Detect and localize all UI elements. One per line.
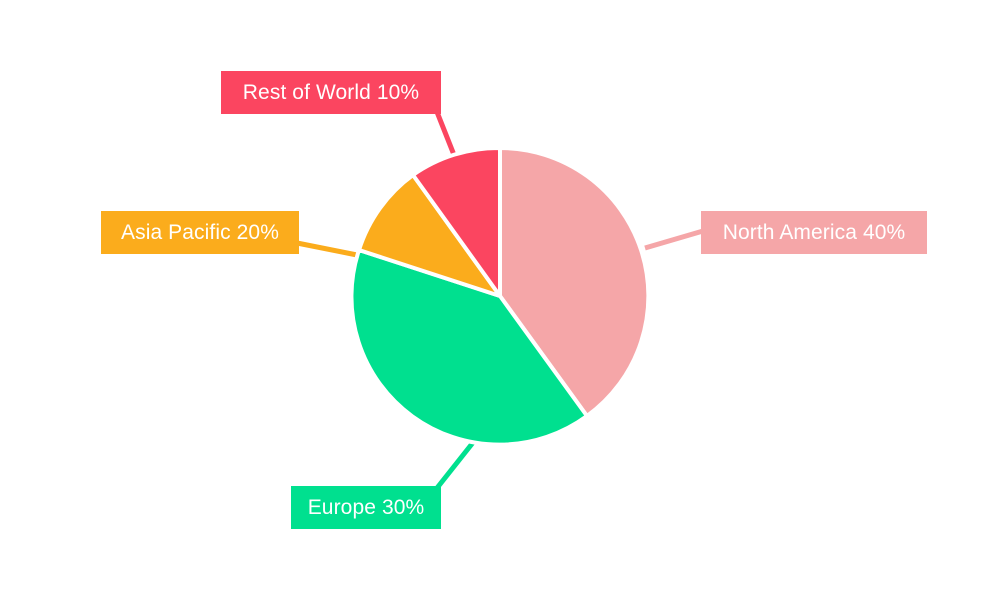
- pie-label-asia-pacific[interactable]: Asia Pacific 20%: [101, 211, 299, 254]
- leader-line-asia-pacific: [297, 243, 357, 255]
- leader-line-europe: [437, 440, 475, 488]
- pie-chart-figure: Rest of World 10% Asia Pacific 20% North…: [0, 0, 1000, 600]
- pie-slices: [351, 148, 648, 445]
- pie-label-north-america[interactable]: North America 40%: [701, 211, 927, 254]
- pie-label-rest-of-world-text: Rest of World 10%: [243, 82, 419, 103]
- pie-label-europe[interactable]: Europe 30%: [291, 486, 441, 529]
- pie-label-asia-pacific-text: Asia Pacific 20%: [121, 222, 279, 243]
- pie-label-rest-of-world[interactable]: Rest of World 10%: [221, 71, 441, 114]
- pie-label-europe-text: Europe 30%: [308, 497, 425, 518]
- pie-chart-canvas: [0, 0, 1000, 600]
- leader-line-north-america: [645, 231, 703, 248]
- pie-label-north-america-text: North America 40%: [723, 222, 906, 243]
